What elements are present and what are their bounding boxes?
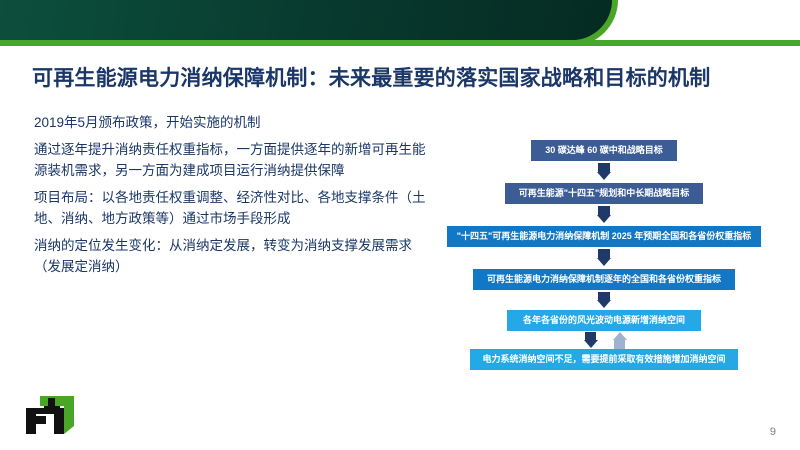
flow-row-5: 各年各省份的风光波动电源新增消纳空间 [418, 310, 790, 331]
flow-box-4: 可再生能源电力消纳保障机制逐年的全国和各省份权重指标 [473, 269, 735, 290]
body-paragraph-1: 2019年5月颁布政策，开始实施的机制 [34, 112, 438, 133]
flow-row-4: 可再生能源电力消纳保障机制逐年的全国和各省份权重指标 [418, 269, 790, 290]
eri-cube-logo [18, 388, 84, 440]
flow-row-3: "十四五"可再生能源电力消纳保障机制 2025 年预期全国和各省份权重指标 [418, 226, 790, 247]
flow-box-1: 30 碳达峰 60 碳中和战略目标 [531, 140, 677, 161]
page-number: 9 [770, 426, 776, 438]
header-band-gradient [0, 0, 612, 40]
flow-box-6: 电力系统消纳空间不足，需要提前采取有效措施增加消纳空间 [470, 349, 737, 370]
header-band [0, 0, 618, 46]
body-text-column: 2019年5月颁布政策，开始实施的机制 通过逐年提升消纳责任权重指标，一方面提供… [34, 112, 438, 283]
body-paragraph-3: 项目布局：以各地责任权重调整、经济性对比、各地支撑条件（土地、消纳、地方政策等）… [34, 187, 438, 229]
flowchart: 30 碳达峰 60 碳中和战略目标 可再生能源"十四五"规划和中长期战略目标 "… [418, 140, 790, 370]
body-paragraph-2: 通过逐年提升消纳责任权重指标，一方面提供逐年的新增可再生能源装机需求，另一方面为… [34, 139, 438, 181]
slide-root: 国家发展和改革委员会能源研究所 Energy Research Institut… [0, 0, 800, 450]
page-title: 可再生能源电力消纳保障机制：未来最重要的落实国家战略和目标的机制 [32, 62, 784, 92]
body-paragraph-4: 消纳的定位发生变化：从消纳定发展，转变为消纳支撑发展需求（发展定消纳） [34, 235, 438, 277]
flow-row-6: 电力系统消纳空间不足，需要提前采取有效措施增加消纳空间 [418, 349, 790, 370]
flow-row-1: 30 碳达峰 60 碳中和战略目标 [418, 140, 790, 161]
flow-box-3: "十四五"可再生能源电力消纳保障机制 2025 年预期全国和各省份权重指标 [447, 226, 762, 247]
flow-row-2: 可再生能源"十四五"规划和中长期战略目标 [418, 183, 790, 204]
flow-box-5: 各年各省份的风光波动电源新增消纳空间 [507, 310, 701, 331]
flow-box-2: 可再生能源"十四五"规划和中长期战略目标 [505, 183, 704, 204]
